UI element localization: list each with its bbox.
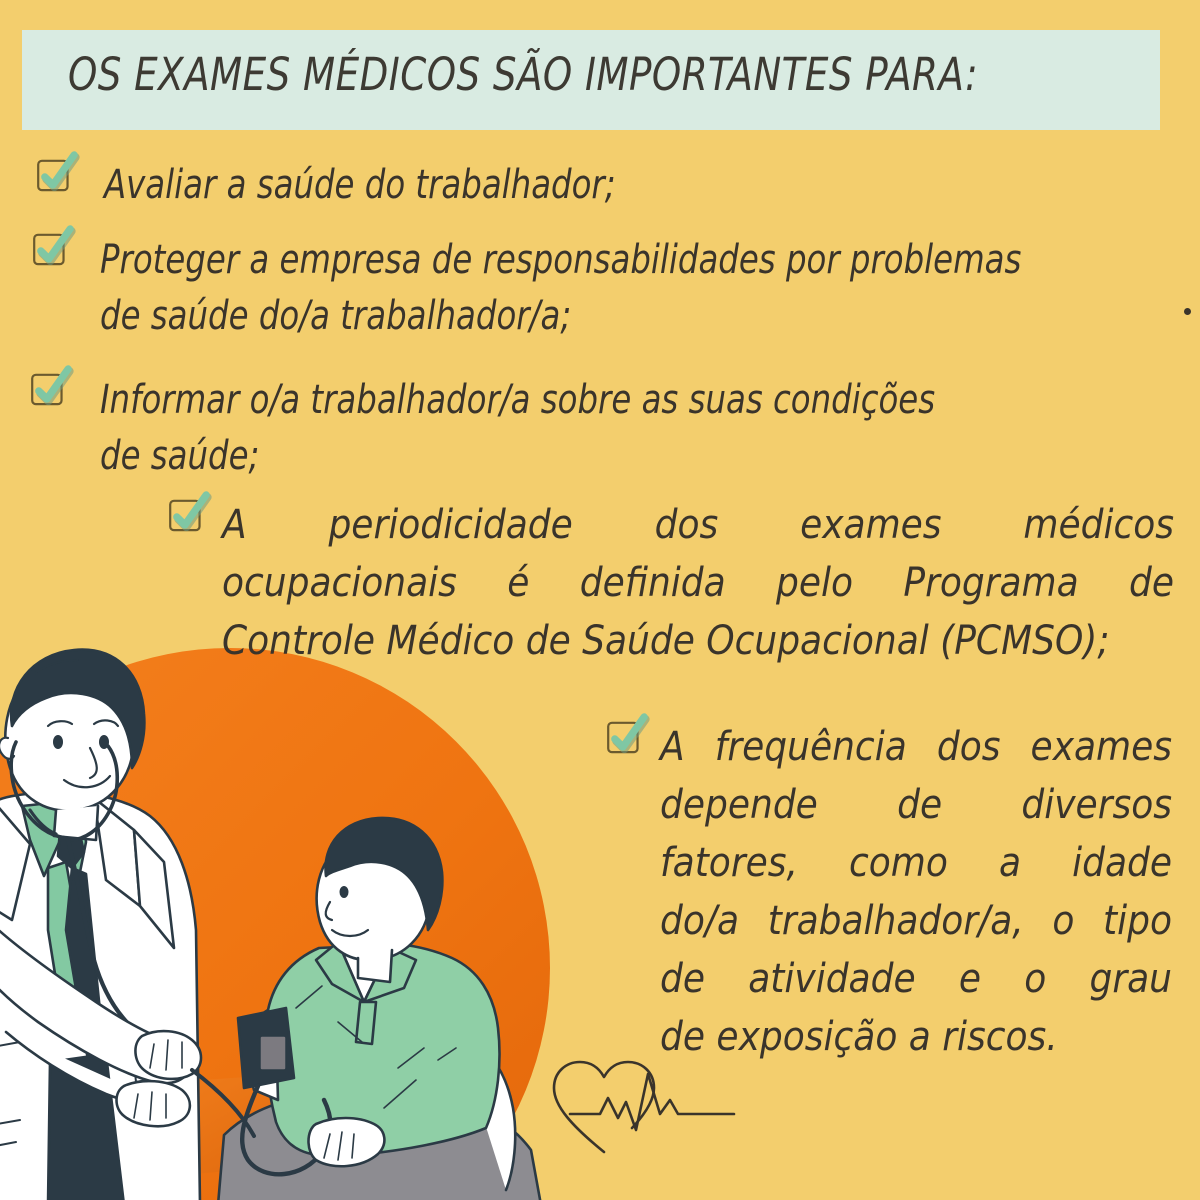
doctor-measuring-blood-pressure-illustration bbox=[0, 630, 586, 1200]
list-item-line: Informar o/a trabalhador/a sobre as suas… bbox=[100, 372, 1135, 428]
list-item-line: Proteger a empresa de responsabilidades … bbox=[100, 232, 1180, 288]
list-item-line: de saúde do/a trabalhador/a; bbox=[100, 288, 1180, 344]
poster-canvas: OS EXAMES MÉDICOS SÃO IMPORTANTES PARA: bbox=[0, 0, 1200, 1200]
heart-pulse-icon bbox=[548, 1056, 768, 1156]
checked-checkbox-icon[interactable] bbox=[30, 366, 74, 410]
list-item-text: A frequência dos exames depende de diver… bbox=[660, 718, 1172, 1066]
list-item-text: Proteger a empresa de responsabilidades … bbox=[100, 232, 1180, 344]
checked-checkbox-icon[interactable] bbox=[168, 492, 212, 536]
page-title: OS EXAMES MÉDICOS SÃO IMPORTANTES PARA: bbox=[68, 48, 1062, 101]
list-item-text: A periodicidade dos exames médicos ocupa… bbox=[222, 496, 1174, 670]
list-item-line: A frequência dos exames bbox=[660, 718, 1172, 776]
checked-checkbox-icon[interactable] bbox=[32, 226, 76, 270]
checked-checkbox-icon[interactable] bbox=[606, 714, 650, 758]
list-item-line: de saúde; bbox=[100, 428, 1135, 484]
list-item-line: ocupacionais é definida pelo Programa de bbox=[222, 554, 1174, 612]
list-item-text: Avaliar a saúde do trabalhador; bbox=[104, 158, 616, 212]
list-item-line: de atividade e o grau bbox=[660, 950, 1172, 1008]
list-item-line: depende de diversos bbox=[660, 776, 1172, 834]
list-item-text: Informar o/a trabalhador/a sobre as suas… bbox=[100, 372, 1135, 484]
stray-period-mark bbox=[1184, 308, 1191, 315]
list-item-line: Controle Médico de Saúde Ocupacional (PC… bbox=[222, 612, 1174, 670]
list-item-line: do/a trabalhador/a, o tipo bbox=[660, 892, 1172, 950]
list-item-line: fatores, como a idade bbox=[660, 834, 1172, 892]
list-item-line: A periodicidade dos exames médicos bbox=[222, 496, 1174, 554]
checked-checkbox-icon[interactable] bbox=[36, 152, 80, 196]
